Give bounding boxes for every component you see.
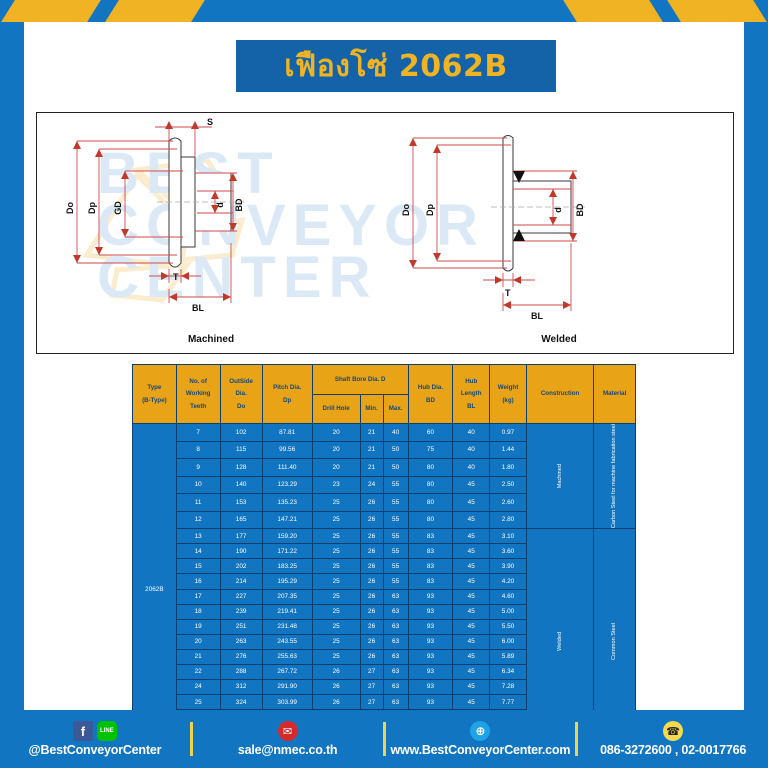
cell-teeth: 14 xyxy=(176,544,220,559)
cell-do: 153 xyxy=(220,494,262,512)
cell-bl: 45 xyxy=(453,476,490,494)
cell-dp: 111.40 xyxy=(262,459,312,477)
cell-bl: 40 xyxy=(453,459,490,477)
table-row: 13177159.2025265583453.10WeldedCommon St… xyxy=(133,529,636,544)
cell-wt: 5.00 xyxy=(490,604,527,619)
cell-wt: 7.77 xyxy=(490,695,527,710)
cell-teeth: 17 xyxy=(176,589,220,604)
svg-text:GD: GD xyxy=(113,201,123,215)
svg-text:BD: BD xyxy=(234,198,244,211)
cell-do: 214 xyxy=(220,574,262,589)
col-header-bore-max: Max. xyxy=(383,394,408,424)
cell-min: 27 xyxy=(360,680,383,695)
cell-max: 55 xyxy=(383,574,408,589)
cell-type: 2062B xyxy=(133,424,177,756)
cell-dp: 99.56 xyxy=(262,441,312,459)
cell-bd: 93 xyxy=(408,604,453,619)
cell-wt: 0.97 xyxy=(490,424,527,442)
cell-max: 55 xyxy=(383,559,408,574)
cell-bl: 45 xyxy=(453,511,490,529)
cell-bd: 83 xyxy=(408,544,453,559)
cell-dp: 147.21 xyxy=(262,511,312,529)
cell-teeth: 8 xyxy=(176,441,220,459)
svg-text:Do: Do xyxy=(65,202,75,214)
cell-dp: 243.55 xyxy=(262,634,312,649)
svg-text:BL: BL xyxy=(531,311,543,321)
cell-construction: Machined xyxy=(526,424,593,529)
cell-dp: 159.20 xyxy=(262,529,312,544)
svg-text:T: T xyxy=(505,288,511,298)
table-row: 2062B710287.8120214060400.97MachinedCarb… xyxy=(133,424,636,442)
footer-label: 086-3272600 , 02-0017766 xyxy=(600,743,746,757)
cell-bl: 45 xyxy=(453,574,490,589)
drawing-machined: S Do Dp GD d BD T BL Machined xyxy=(37,113,385,353)
col-header-teeth: No. of Working Teeth xyxy=(176,365,220,424)
table-header: Type (B-Type) No. of Working Teeth OutSi… xyxy=(133,365,636,424)
cell-drill: 25 xyxy=(312,574,360,589)
mail-icon[interactable]: ✉ xyxy=(278,721,298,741)
footer-icons: ⊕ xyxy=(470,721,490,741)
cell-teeth: 7 xyxy=(176,424,220,442)
cell-wt: 1.44 xyxy=(490,441,527,459)
col-header-bore-min: Min. xyxy=(360,394,383,424)
svg-text:Dp: Dp xyxy=(425,204,435,216)
svg-text:d: d xyxy=(553,207,563,213)
svg-text:Do: Do xyxy=(401,204,411,216)
cell-drill: 25 xyxy=(312,494,360,512)
cell-min: 26 xyxy=(360,649,383,664)
cell-do: 140 xyxy=(220,476,262,494)
footer-item[interactable]: ⊕www.BestConveyorCenter.com xyxy=(386,721,576,757)
cell-bd: 60 xyxy=(408,424,453,442)
cell-bl: 45 xyxy=(453,619,490,634)
cell-drill: 26 xyxy=(312,695,360,710)
cell-dp: 87.81 xyxy=(262,424,312,442)
cell-dp: 135.23 xyxy=(262,494,312,512)
cell-teeth: 12 xyxy=(176,511,220,529)
cell-bl: 45 xyxy=(453,544,490,559)
cell-max: 55 xyxy=(383,476,408,494)
cell-teeth: 19 xyxy=(176,619,220,634)
cell-max: 55 xyxy=(383,529,408,544)
cell-bl: 45 xyxy=(453,665,490,680)
cell-wt: 5.50 xyxy=(490,619,527,634)
cell-drill: 25 xyxy=(312,511,360,529)
cell-dp: 291.90 xyxy=(262,680,312,695)
chevron-decoration xyxy=(105,0,205,22)
cell-drill: 20 xyxy=(312,441,360,459)
cell-wt: 3.90 xyxy=(490,559,527,574)
table-body: 2062B710287.8120214060400.97MachinedCarb… xyxy=(133,424,636,756)
cell-wt: 7.28 xyxy=(490,680,527,695)
cell-bd: 80 xyxy=(408,511,453,529)
cell-bl: 45 xyxy=(453,589,490,604)
cell-dp: 267.72 xyxy=(262,665,312,680)
cell-min: 24 xyxy=(360,476,383,494)
cell-do: 177 xyxy=(220,529,262,544)
cell-min: 26 xyxy=(360,494,383,512)
cell-bd: 93 xyxy=(408,634,453,649)
col-header-material: Material xyxy=(594,365,636,424)
cell-drill: 25 xyxy=(312,649,360,664)
cell-dp: 219.41 xyxy=(262,604,312,619)
footer-icons: ✉ xyxy=(278,721,298,741)
cell-bl: 45 xyxy=(453,680,490,695)
cell-teeth: 20 xyxy=(176,634,220,649)
cell-dp: 183.25 xyxy=(262,559,312,574)
cell-dp: 303.99 xyxy=(262,695,312,710)
cell-bl: 45 xyxy=(453,634,490,649)
col-header-drill-hole: Drill Hole xyxy=(312,394,360,424)
contact-footer: fLINE@BestConveyorCenter✉sale@nmec.co.th… xyxy=(0,710,768,768)
cell-min: 21 xyxy=(360,441,383,459)
footer-item[interactable]: fLINE@BestConveyorCenter xyxy=(0,721,190,757)
cell-min: 26 xyxy=(360,634,383,649)
cell-dp: 207.35 xyxy=(262,589,312,604)
cell-bd: 83 xyxy=(408,574,453,589)
cell-min: 26 xyxy=(360,511,383,529)
cell-max: 55 xyxy=(383,494,408,512)
cell-wt: 4.20 xyxy=(490,574,527,589)
cell-teeth: 25 xyxy=(176,695,220,710)
chevron-decoration xyxy=(1,0,101,22)
cell-do: 251 xyxy=(220,619,262,634)
drawing-caption-machined: Machined xyxy=(37,334,385,345)
phone-icon[interactable]: ☎ xyxy=(663,721,683,741)
cell-wt: 1.80 xyxy=(490,459,527,477)
cell-max: 63 xyxy=(383,665,408,680)
cell-bd: 93 xyxy=(408,680,453,695)
col-header-hub-length: Hub Length BL xyxy=(453,365,490,424)
cell-bl: 45 xyxy=(453,604,490,619)
cell-max: 63 xyxy=(383,634,408,649)
footer-item[interactable]: ✉sale@nmec.co.th xyxy=(193,721,383,757)
cell-bd: 80 xyxy=(408,494,453,512)
drawing-caption-welded: Welded xyxy=(385,334,733,345)
cell-max: 55 xyxy=(383,544,408,559)
cell-drill: 25 xyxy=(312,604,360,619)
cell-wt: 5.89 xyxy=(490,649,527,664)
cell-bl: 45 xyxy=(453,494,490,512)
svg-text:S: S xyxy=(207,117,213,127)
cell-wt: 3.60 xyxy=(490,544,527,559)
cell-do: 190 xyxy=(220,544,262,559)
cell-dp: 195.29 xyxy=(262,574,312,589)
line-icon[interactable]: LINE xyxy=(97,721,117,741)
cell-do: 227 xyxy=(220,589,262,604)
svg-text:BL: BL xyxy=(192,303,204,313)
cell-wt: 4.60 xyxy=(490,589,527,604)
cell-teeth: 13 xyxy=(176,529,220,544)
footer-label: www.BestConveyorCenter.com xyxy=(390,743,570,757)
cell-drill: 25 xyxy=(312,559,360,574)
cell-min: 27 xyxy=(360,695,383,710)
footer-icons: ☎ xyxy=(663,721,683,741)
top-decorative-band xyxy=(0,0,768,22)
cell-bd: 93 xyxy=(408,619,453,634)
cell-teeth: 11 xyxy=(176,494,220,512)
col-header-type: Type (B-Type) xyxy=(133,365,177,424)
cell-drill: 25 xyxy=(312,544,360,559)
cell-do: 128 xyxy=(220,459,262,477)
cell-teeth: 16 xyxy=(176,574,220,589)
cell-teeth: 24 xyxy=(176,680,220,695)
cell-dp: 171.22 xyxy=(262,544,312,559)
cell-do: 202 xyxy=(220,559,262,574)
drawing-welded: Do Dp d BD T BL Welded xyxy=(385,113,733,353)
cell-drill: 25 xyxy=(312,634,360,649)
cell-wt: 6.34 xyxy=(490,665,527,680)
cell-min: 26 xyxy=(360,619,383,634)
cell-bd: 93 xyxy=(408,695,453,710)
col-header-outside-dia: OutSide Dia. Do xyxy=(220,365,262,424)
cell-bd: 80 xyxy=(408,476,453,494)
svg-text:d: d xyxy=(215,202,225,208)
chevron-decoration xyxy=(667,0,767,22)
cell-bd: 83 xyxy=(408,559,453,574)
col-header-hub-dia: Hub Dia. BD xyxy=(408,365,453,424)
globe-icon[interactable]: ⊕ xyxy=(470,721,490,741)
cell-dp: 231.48 xyxy=(262,619,312,634)
cell-bl: 45 xyxy=(453,559,490,574)
footer-icons: fLINE xyxy=(73,721,117,741)
cell-max: 50 xyxy=(383,441,408,459)
cell-max: 50 xyxy=(383,459,408,477)
cell-teeth: 22 xyxy=(176,665,220,680)
cell-material: Carbon Steel for machine fabrication ste… xyxy=(594,424,636,529)
page-sheet: เฟืองโซ่ 2062B BEST CONVEYOR CENTER xyxy=(24,22,744,710)
cell-max: 55 xyxy=(383,511,408,529)
cell-wt: 6.00 xyxy=(490,634,527,649)
cell-drill: 25 xyxy=(312,529,360,544)
facebook-icon[interactable]: f xyxy=(73,721,93,741)
cell-max: 63 xyxy=(383,649,408,664)
cell-teeth: 9 xyxy=(176,459,220,477)
cell-bl: 45 xyxy=(453,695,490,710)
footer-label: @BestConveyorCenter xyxy=(29,743,162,757)
cell-max: 63 xyxy=(383,604,408,619)
cell-bl: 40 xyxy=(453,441,490,459)
svg-text:BD: BD xyxy=(575,203,585,216)
cell-min: 26 xyxy=(360,589,383,604)
cell-min: 27 xyxy=(360,665,383,680)
cell-bl: 40 xyxy=(453,424,490,442)
cell-wt: 2.80 xyxy=(490,511,527,529)
col-header-pitch-dia: Pitch Dia. Dp xyxy=(262,365,312,424)
footer-items: fLINE@BestConveyorCenter✉sale@nmec.co.th… xyxy=(0,710,768,768)
cell-dp: 123.29 xyxy=(262,476,312,494)
cell-max: 63 xyxy=(383,619,408,634)
cell-drill: 20 xyxy=(312,459,360,477)
cell-min: 26 xyxy=(360,574,383,589)
cell-drill: 25 xyxy=(312,619,360,634)
cell-min: 21 xyxy=(360,459,383,477)
cell-do: 288 xyxy=(220,665,262,680)
svg-text:T: T xyxy=(173,272,179,282)
svg-text:Dp: Dp xyxy=(87,202,97,214)
cell-bd: 93 xyxy=(408,665,453,680)
col-header-weight: Weight (kg) xyxy=(490,365,527,424)
cell-teeth: 21 xyxy=(176,649,220,664)
cell-bd: 80 xyxy=(408,459,453,477)
cell-bd: 93 xyxy=(408,649,453,664)
cell-do: 165 xyxy=(220,511,262,529)
cell-min: 26 xyxy=(360,559,383,574)
cell-do: 324 xyxy=(220,695,262,710)
cell-do: 102 xyxy=(220,424,262,442)
cell-do: 239 xyxy=(220,604,262,619)
cell-wt: 3.10 xyxy=(490,529,527,544)
cell-min: 26 xyxy=(360,544,383,559)
cell-bd: 93 xyxy=(408,589,453,604)
cell-teeth: 18 xyxy=(176,604,220,619)
footer-label: sale@nmec.co.th xyxy=(238,743,338,757)
footer-item[interactable]: ☎086-3272600 , 02-0017766 xyxy=(578,721,768,757)
cell-drill: 25 xyxy=(312,589,360,604)
cell-drill: 26 xyxy=(312,680,360,695)
cell-min: 26 xyxy=(360,604,383,619)
cell-bd: 83 xyxy=(408,529,453,544)
cell-max: 63 xyxy=(383,680,408,695)
cell-min: 26 xyxy=(360,529,383,544)
col-header-construction: Construction xyxy=(526,365,593,424)
cell-teeth: 10 xyxy=(176,476,220,494)
cell-do: 263 xyxy=(220,634,262,649)
cell-bd: 75 xyxy=(408,441,453,459)
cell-wt: 2.60 xyxy=(490,494,527,512)
cell-drill: 26 xyxy=(312,665,360,680)
cell-dp: 255.63 xyxy=(262,649,312,664)
cell-teeth: 15 xyxy=(176,559,220,574)
page-title-bar: เฟืองโซ่ 2062B xyxy=(236,40,556,92)
cell-do: 312 xyxy=(220,680,262,695)
cell-max: 63 xyxy=(383,695,408,710)
cell-max: 40 xyxy=(383,424,408,442)
cell-do: 276 xyxy=(220,649,262,664)
sprocket-spec-table: Type (B-Type) No. of Working Teeth OutSi… xyxy=(132,364,636,756)
cell-max: 63 xyxy=(383,589,408,604)
cell-min: 21 xyxy=(360,424,383,442)
page-title: เฟืองโซ่ 2062B xyxy=(284,43,507,90)
cell-drill: 23 xyxy=(312,476,360,494)
chevron-decoration xyxy=(563,0,663,22)
cell-bl: 45 xyxy=(453,649,490,664)
cell-wt: 2.50 xyxy=(490,476,527,494)
col-header-shaft-bore-group: Shaft Bore Dia. D xyxy=(312,365,408,395)
technical-drawing-box: BEST CONVEYOR CENTER xyxy=(36,112,734,354)
cell-drill: 20 xyxy=(312,424,360,442)
cell-bl: 45 xyxy=(453,529,490,544)
cell-do: 115 xyxy=(220,441,262,459)
